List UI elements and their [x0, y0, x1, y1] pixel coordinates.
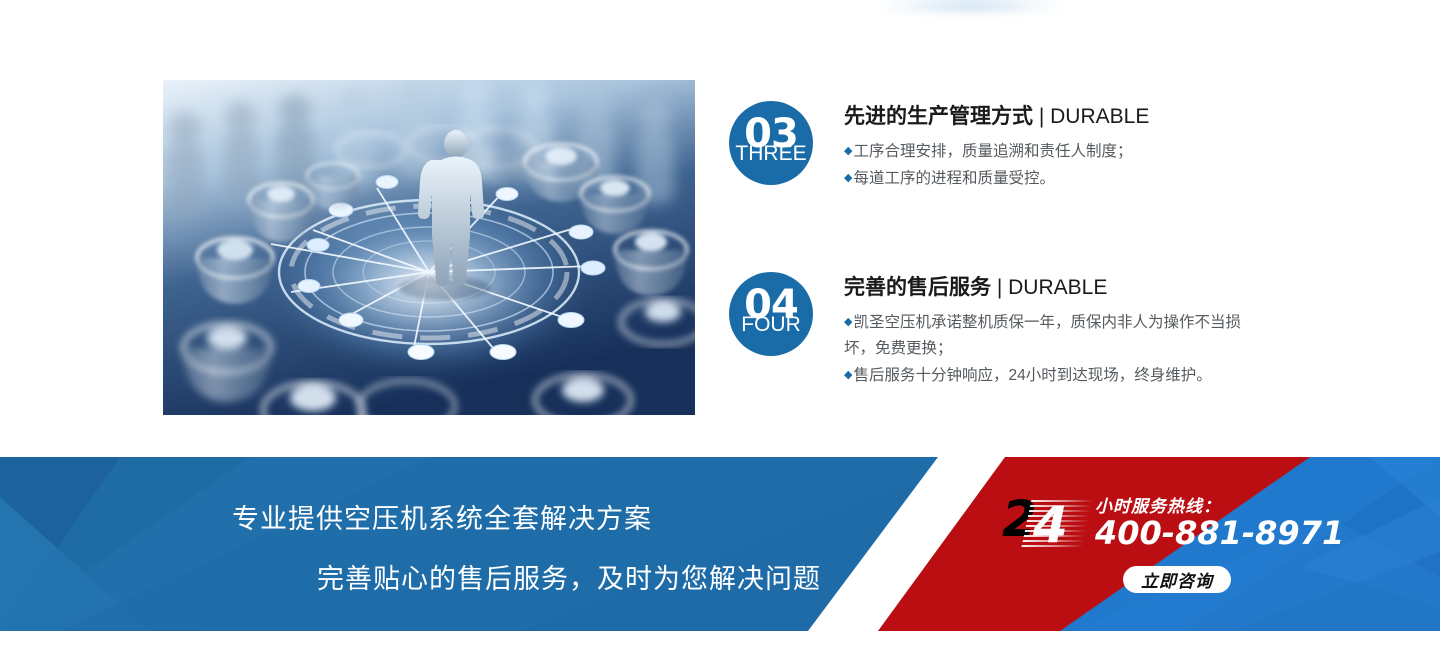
feature-bullet-line: ◆工序合理安排，质量追溯和责任人制度；	[844, 138, 1149, 165]
hotline-digit-4: 4	[1033, 500, 1068, 550]
feature-bullet-line: ◆凯圣空压机承诺整机质保一年，质保内非人为操作不当损坏，免费更换；	[844, 309, 1244, 362]
feature-badge-word: FOUR	[729, 313, 813, 337]
feature-bullet-text: 每道工序的进程和质量受控。	[853, 170, 1055, 187]
feature-badge-04: 04 FOUR	[729, 272, 813, 356]
twenty-four-hour-logo: 2 4	[1002, 494, 1086, 552]
feature-title-separator: |	[1033, 105, 1050, 128]
top-edge-smudge	[880, 0, 1060, 12]
feature-title: 完善的售后服务 | DURABLE	[844, 274, 1244, 302]
network-illustration-icon	[163, 80, 695, 415]
hotline-digit-2: 2	[1002, 494, 1037, 544]
diamond-bullet-icon: ◆	[844, 145, 852, 157]
feature-bullet-list: ◆凯圣空压机承诺整机质保一年，质保内非人为操作不当损坏，免费更换； ◆售后服务十…	[844, 309, 1244, 389]
diamond-bullet-icon: ◆	[844, 369, 852, 381]
feature-bullet-text: 售后服务十分钟响应，24小时到达现场，终身维护。	[853, 367, 1211, 384]
feature-title-separator: |	[991, 276, 1008, 299]
feature-badge-03: 03 THREE	[729, 101, 813, 185]
feature-bullet-text: 凯圣空压机承诺整机质保一年，质保内非人为操作不当损坏，免费更换；	[844, 314, 1241, 357]
hotline-phone-number[interactable]: 400-881-8971	[1095, 514, 1344, 552]
feature-item-04: 04 FOUR 完善的售后服务 | DURABLE ◆凯圣空压机承诺整机质保一年…	[729, 272, 1244, 389]
feature-item-03: 03 THREE 先进的生产管理方式 | DURABLE ◆工序合理安排，质量追…	[729, 101, 1149, 192]
feature-title-en: DURABLE	[1050, 105, 1149, 128]
consult-now-button[interactable]: 立即咨询	[1123, 566, 1231, 593]
feature-badge-word: THREE	[729, 142, 813, 166]
feature-bullet-list: ◆工序合理安排，质量追溯和责任人制度； ◆每道工序的进程和质量受控。	[844, 138, 1149, 192]
feature-bullet-line: ◆售后服务十分钟响应，24小时到达现场，终身维护。	[844, 362, 1244, 389]
feature-title-cn: 完善的售后服务	[844, 276, 991, 299]
diamond-bullet-icon: ◆	[844, 172, 852, 184]
feature-title-en: DURABLE	[1008, 276, 1107, 299]
feature-text-block: 先进的生产管理方式 | DURABLE ◆工序合理安排，质量追溯和责任人制度； …	[844, 101, 1149, 192]
feature-text-block: 完善的售后服务 | DURABLE ◆凯圣空压机承诺整机质保一年，质保内非人为操…	[844, 272, 1244, 389]
hotline-block: 2 4 小时服务热线： 400-881-8971	[1002, 492, 1302, 562]
feature-title-cn: 先进的生产管理方式	[844, 105, 1033, 128]
feature-bullet-line: ◆每道工序的进程和质量受控。	[844, 165, 1149, 192]
feature-photo	[163, 80, 695, 415]
diamond-bullet-icon: ◆	[844, 316, 852, 328]
feature-bullet-text: 工序合理安排，质量追溯和责任人制度；	[853, 143, 1132, 160]
feature-title: 先进的生产管理方式 | DURABLE	[844, 103, 1149, 131]
